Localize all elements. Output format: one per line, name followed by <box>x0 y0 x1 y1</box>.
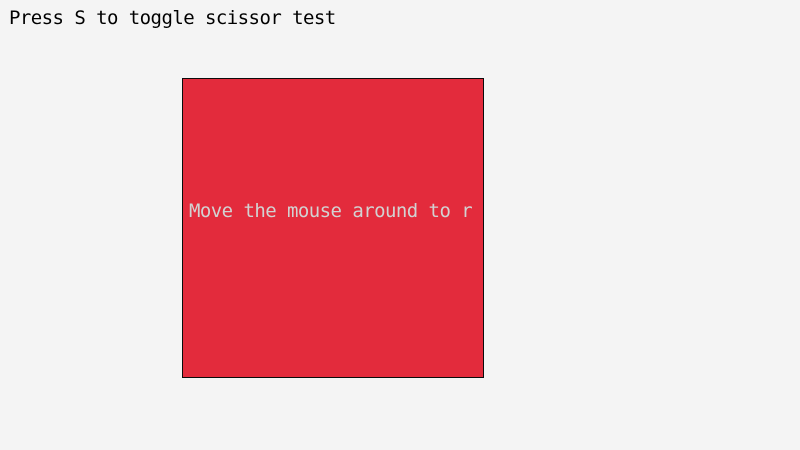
clipped-message-text: Move the mouse around to r <box>189 199 472 223</box>
hint-text: Press S to toggle scissor test <box>9 6 336 30</box>
scissor-test-rectangle[interactable]: Move the mouse around to r <box>182 78 484 378</box>
scissor-clip-region: Move the mouse around to r <box>183 79 483 377</box>
demo-canvas[interactable]: Press S to toggle scissor test Move the … <box>0 0 800 450</box>
